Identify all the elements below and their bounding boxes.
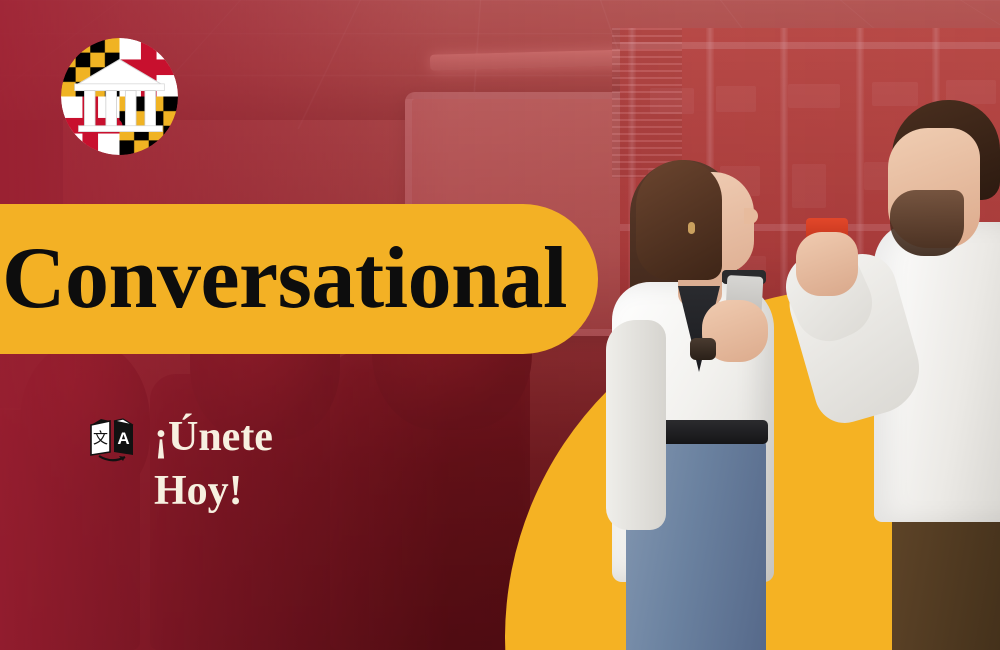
promo-poster: Conversational 文 A: [0, 0, 1000, 650]
maryland-flag-building-logo: [61, 38, 178, 155]
woman-hair-front: [636, 160, 722, 280]
svg-text:文: 文: [93, 429, 108, 447]
woman-earring: [688, 222, 695, 234]
translate-icon: 文 A: [88, 416, 136, 464]
page-title: Conversational: [2, 235, 567, 323]
man-beard: [890, 190, 964, 256]
logo-svg: [61, 38, 178, 155]
cta-first-row: 文 A ¡Únete: [88, 412, 418, 464]
cta-line-2: Hoy!: [154, 466, 418, 517]
svg-text:A: A: [117, 429, 129, 448]
woman-sleeve: [606, 320, 666, 530]
man-hand: [796, 232, 858, 296]
headline-banner: Conversational: [0, 204, 598, 354]
call-to-action: 文 A ¡Únete Hoy!: [88, 412, 418, 517]
woman-nose: [744, 208, 758, 224]
man-trousers: [892, 500, 1000, 650]
cta-line-1: ¡Únete: [154, 412, 273, 463]
woman-wristwatch: [690, 338, 716, 360]
